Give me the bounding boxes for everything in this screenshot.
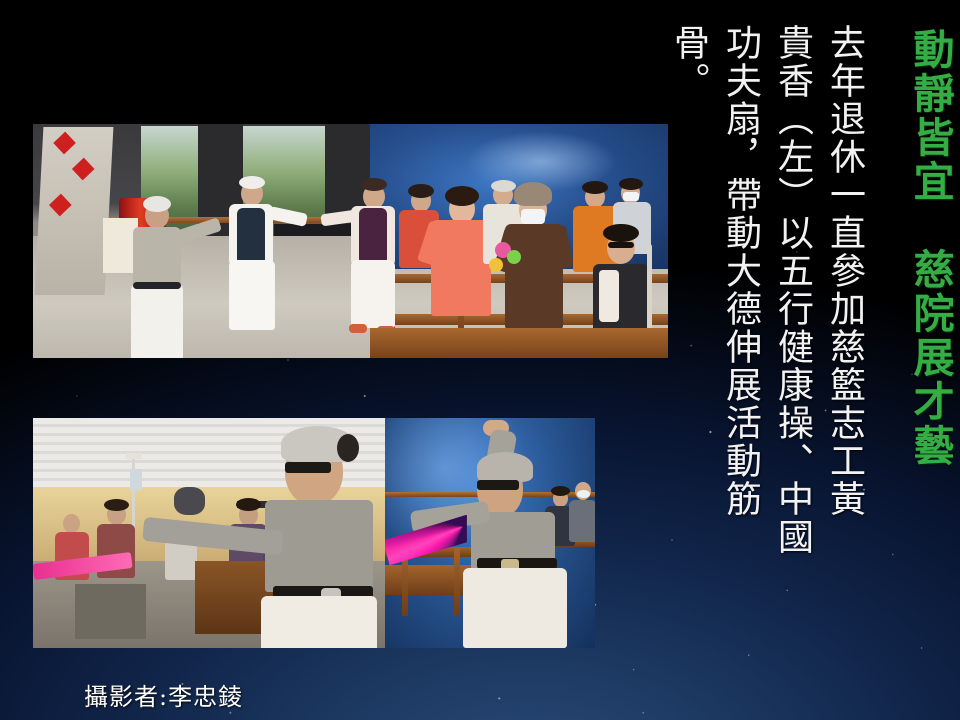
belt	[133, 282, 181, 289]
torso	[133, 227, 181, 289]
page-title: 動靜皆宜 慈院展才藝	[909, 28, 950, 468]
hair	[239, 176, 265, 189]
glasses	[285, 462, 331, 473]
hair	[408, 184, 434, 198]
iv-bag	[130, 469, 142, 491]
white-trousers	[261, 596, 377, 648]
hair	[491, 180, 516, 192]
photo-bottom-left	[33, 418, 385, 648]
iv-hook	[126, 453, 142, 459]
hair	[551, 486, 570, 496]
scarf	[599, 270, 619, 322]
photo-bottom-right	[385, 418, 595, 648]
flower	[507, 250, 521, 264]
ceiling-speaker	[174, 487, 206, 515]
presentation-slide: 動靜皆宜 慈院展才藝 去年退休一直參加慈籃志工黃 貴香（左）以五行健康操、中國 …	[0, 0, 960, 720]
photographer-credit: 攝影者:李忠錂	[84, 677, 243, 712]
legs	[351, 260, 395, 328]
bench-post	[454, 547, 460, 616]
face-mask	[577, 490, 590, 498]
photo-top	[33, 124, 668, 358]
red-diamond-decoration	[49, 194, 72, 217]
head	[63, 514, 80, 533]
body-text-column-3: 功夫扇，帶動大德伸展活動筋	[722, 24, 758, 518]
glasses	[608, 242, 634, 248]
wheelchair	[75, 584, 145, 639]
vest	[359, 208, 387, 262]
hair	[582, 181, 608, 194]
walking-cane	[647, 244, 652, 336]
face-mask	[521, 209, 545, 224]
hair	[619, 178, 643, 190]
white-trousers	[463, 568, 567, 648]
hair	[236, 498, 261, 511]
vest	[237, 208, 265, 262]
flower	[489, 258, 503, 272]
torso	[569, 500, 595, 542]
glasses	[477, 480, 519, 490]
hair	[603, 224, 639, 242]
body-text-column-4: 骨。	[670, 24, 706, 100]
red-diamond-decoration	[54, 132, 77, 155]
decorative-banner	[35, 127, 114, 295]
hair	[143, 196, 171, 212]
hair	[445, 186, 479, 206]
body-text-column-1: 去年退休一直參加慈籃志工黃	[826, 24, 862, 518]
face-mask	[623, 192, 639, 201]
body-text-column-2: 貴香（左）以五行健康操、中國	[774, 24, 810, 556]
grey-hair	[477, 452, 533, 482]
knit-hat	[514, 182, 552, 206]
hair	[104, 499, 129, 511]
hair-bun	[337, 434, 359, 462]
bench-front	[370, 328, 668, 358]
red-diamond-decoration	[72, 158, 95, 181]
hair	[361, 178, 387, 191]
